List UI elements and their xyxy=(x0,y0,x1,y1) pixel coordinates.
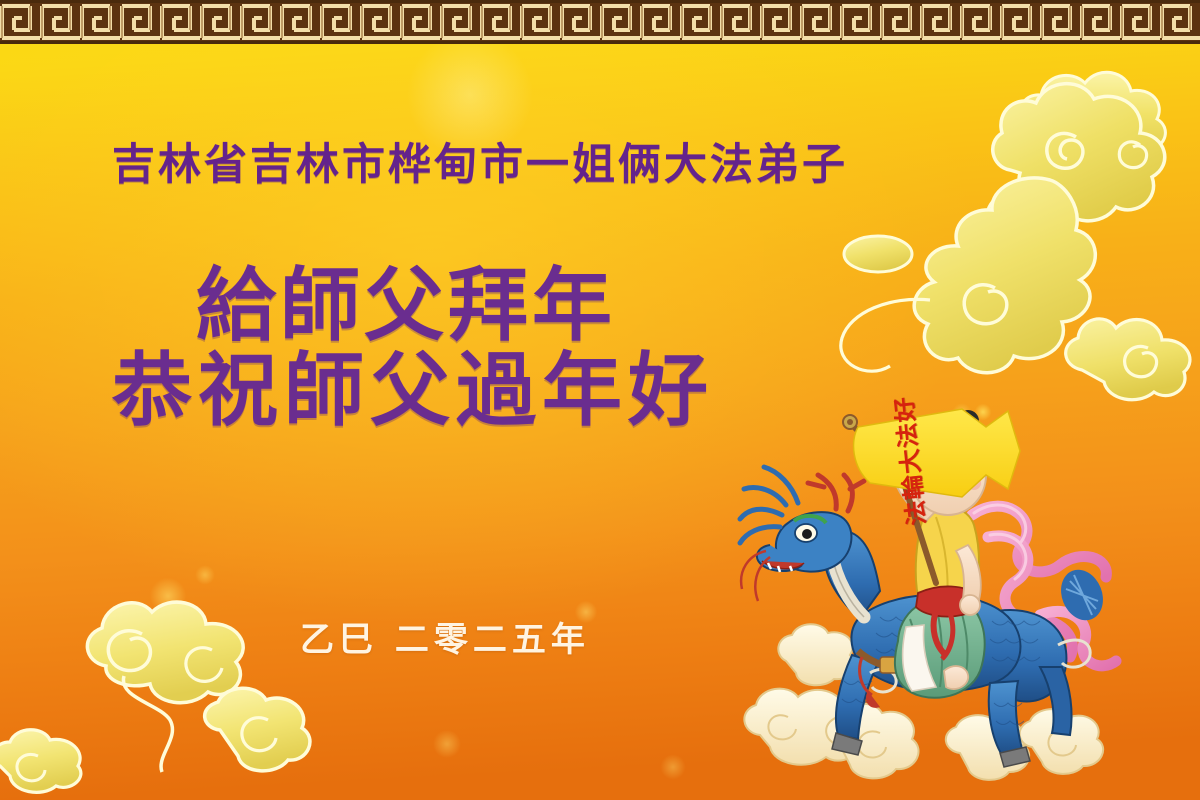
greeting-line-2: 恭祝師父過年好 xyxy=(112,349,714,434)
sender-line: 吉林省吉林市桦甸市一姐俩大法弟子 xyxy=(112,130,848,192)
greek-key-meander-border xyxy=(0,0,1200,44)
greeting-banner-flag xyxy=(854,409,1020,497)
greeting-line-1: 給師父拜年 xyxy=(196,264,714,349)
child-riding-dragon-illustration xyxy=(740,405,1200,800)
date-line: 乙巳 二零二五年 xyxy=(300,612,590,661)
greeting-block: 給師父拜年 恭祝師父過年好 xyxy=(196,264,714,434)
meander-pattern xyxy=(0,0,1200,44)
greeting-card: 吉林省吉林市桦甸市一姐俩大法弟子 給師父拜年 恭祝師父過年好 乙巳 二零二五年 xyxy=(0,0,1200,800)
